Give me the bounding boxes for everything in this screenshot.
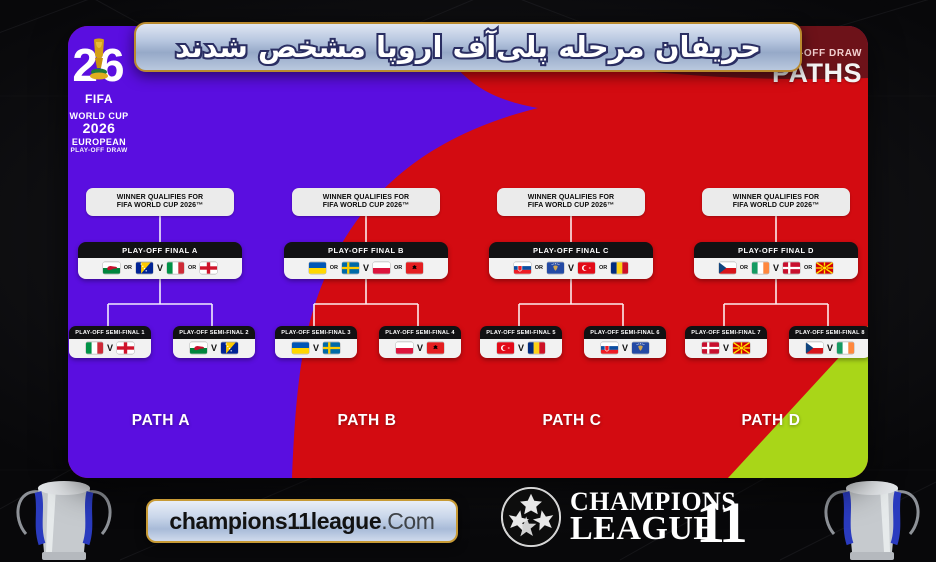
or-label-a-right: OR (188, 265, 196, 271)
site-name: champions11league (169, 508, 381, 534)
flag-nir (200, 262, 217, 274)
final-title-b: PLAY-OFF FINAL B (284, 242, 448, 258)
flag-pol (396, 342, 413, 354)
final-box-d[interactable]: PLAY-OFF FINAL D OR V OR (694, 242, 858, 279)
flag-ita (167, 262, 184, 274)
semi-box-5[interactable]: PLAY-OFF SEMI-FINAL 5 V (480, 326, 562, 358)
final-teams-a: OR V OR (78, 258, 242, 279)
vs-label-a: V (157, 263, 163, 273)
final-box-a[interactable]: PLAY-OFF FINAL A OR V OR (78, 242, 242, 279)
flag-irl (837, 342, 854, 354)
final-teams-c: OR V OR (489, 258, 653, 279)
site-watermark-button[interactable]: champions11league.Com (146, 499, 458, 543)
flag-rou (611, 262, 628, 274)
flag-bih (136, 262, 153, 274)
path-column-b: WINNER QUALIFIES FOR FIFA WORLD CUP 2026… (274, 26, 479, 478)
semi-title-8: PLAY-OFF SEMI-FINAL 8 (789, 326, 868, 339)
vs-label-3: V (313, 343, 319, 353)
flag-ita (86, 342, 103, 354)
winner-note-line1: WINNER QUALIFIES FOR (323, 194, 409, 202)
winner-note-line1: WINNER QUALIFIES FOR (528, 194, 614, 202)
vs-label-8: V (827, 343, 833, 353)
winner-note-c: WINNER QUALIFIES FOR FIFA WORLD CUP 2026… (497, 188, 645, 216)
semi-teams-1: V (69, 339, 151, 358)
playoff-draw-card: 26 FIFA WORLD CUP 2026 EUROPEAN PLAY-OFF… (68, 26, 868, 478)
vs-label-b: V (363, 263, 369, 273)
winner-note-line2: FIFA WORLD CUP 2026™ (117, 202, 203, 210)
winner-note-b: WINNER QUALIFIES FOR FIFA WORLD CUP 2026… (292, 188, 440, 216)
final-title-a: PLAY-OFF FINAL A (78, 242, 242, 258)
flag-swe (323, 342, 340, 354)
vs-label-c: V (568, 263, 574, 273)
vs-label-5: V (518, 343, 524, 353)
flag-svk (601, 342, 618, 354)
brand-number-11: 11 (696, 500, 745, 546)
flag-den (783, 262, 800, 274)
headline-banner: حریفان مرحله پلی‌آف اروپا مشخص شدند (134, 22, 802, 72)
flag-pol (373, 262, 390, 274)
final-box-b[interactable]: PLAY-OFF FINAL B OR V OR (284, 242, 448, 279)
flag-wal (190, 342, 207, 354)
flag-cze (719, 262, 736, 274)
flag-tur (497, 342, 514, 354)
champions-league-starball-icon (500, 486, 562, 548)
winner-note-line2: FIFA WORLD CUP 2026™ (733, 202, 819, 210)
semi-teams-5: V (480, 339, 562, 358)
semi-box-6[interactable]: PLAY-OFF SEMI-FINAL 6 V (584, 326, 666, 358)
winner-note-line2: FIFA WORLD CUP 2026™ (528, 202, 614, 210)
semi-title-7: PLAY-OFF SEMI-FINAL 7 (685, 326, 767, 339)
or-label-d-right: OR (804, 265, 812, 271)
semi-title-3: PLAY-OFF SEMI-FINAL 3 (275, 326, 357, 339)
semi-title-4: PLAY-OFF SEMI-FINAL 4 (379, 326, 461, 339)
flag-nir (117, 342, 134, 354)
site-tld: .Com (381, 508, 434, 534)
flag-alb (406, 262, 423, 274)
vs-label-2: V (211, 343, 217, 353)
flag-alb (427, 342, 444, 354)
flag-cze (806, 342, 823, 354)
or-label-b-left: OR (330, 265, 338, 271)
semi-title-1: PLAY-OFF SEMI-FINAL 1 (69, 326, 151, 339)
headline-text: حریفان مرحله پلی‌آف اروپا مشخص شدند (175, 30, 761, 64)
path-label-d: PATH D (696, 412, 846, 430)
playoff-bracket: WINNER QUALIFIES FOR FIFA WORLD CUP 2026… (68, 26, 868, 478)
flag-rou (528, 342, 545, 354)
flag-swe (342, 262, 359, 274)
winner-note-line2: FIFA WORLD CUP 2026™ (323, 202, 409, 210)
semi-teams-8: V (789, 339, 868, 358)
semi-teams-7: V (685, 339, 767, 358)
winner-note-d: WINNER QUALIFIES FOR FIFA WORLD CUP 2026… (702, 188, 850, 216)
screenshot-root: 26 FIFA WORLD CUP 2026 EUROPEAN PLAY-OFF… (0, 0, 936, 562)
semi-teams-6: V (584, 339, 666, 358)
semi-title-6: PLAY-OFF SEMI-FINAL 6 (584, 326, 666, 339)
world-cup-trophy-icon (86, 36, 112, 82)
path-label-b: PATH B (292, 412, 442, 430)
semi-box-3[interactable]: PLAY-OFF SEMI-FINAL 3 V (275, 326, 357, 358)
champions-league-11-logo: CHAMPIONS LEAGUE 11 (500, 486, 736, 548)
semi-box-2[interactable]: PLAY-OFF SEMI-FINAL 2 V (173, 326, 255, 358)
flag-svk (514, 262, 531, 274)
flag-mkd (816, 262, 833, 274)
final-title-c: PLAY-OFF FINAL C (489, 242, 653, 258)
semi-teams-4: V (379, 339, 461, 358)
final-title-d: PLAY-OFF FINAL D (694, 242, 858, 258)
logo-line-european: EUROPEAN (69, 137, 128, 147)
flag-ukr (292, 342, 309, 354)
flag-kos (632, 342, 649, 354)
path-label-a: PATH A (86, 412, 236, 430)
or-label-c-right: OR (599, 265, 607, 271)
semi-box-7[interactable]: PLAY-OFF SEMI-FINAL 7 V (685, 326, 767, 358)
semi-teams-3: V (275, 339, 357, 358)
or-label-c-left: OR (535, 265, 543, 271)
path-column-c: WINNER QUALIFIES FOR FIFA WORLD CUP 2026… (479, 26, 684, 478)
flag-den (702, 342, 719, 354)
semi-title-5: PLAY-OFF SEMI-FINAL 5 (480, 326, 562, 339)
semi-title-2: PLAY-OFF SEMI-FINAL 2 (173, 326, 255, 339)
logo-26-mark: 26 (71, 32, 127, 98)
vs-label-1: V (107, 343, 113, 353)
winner-note-a: WINNER QUALIFIES FOR FIFA WORLD CUP 2026… (86, 188, 234, 216)
flag-mkd (733, 342, 750, 354)
winner-note-line1: WINNER QUALIFIES FOR (733, 194, 819, 202)
semi-box-8[interactable]: PLAY-OFF SEMI-FINAL 8 V (789, 326, 868, 358)
or-label-b-right: OR (394, 265, 402, 271)
fifa-world-cup-2026-logo: 26 FIFA WORLD CUP 2026 EUROPEAN PLAY-OFF… (68, 26, 130, 166)
winner-note-line1: WINNER QUALIFIES FOR (117, 194, 203, 202)
final-teams-b: OR V OR (284, 258, 448, 279)
path-label-c: PATH C (497, 412, 647, 430)
final-teams-d: OR V OR (694, 258, 858, 279)
flag-kos (547, 262, 564, 274)
site-watermark-text: champions11league.Com (169, 508, 434, 535)
vs-label-7: V (723, 343, 729, 353)
flag-tur (578, 262, 595, 274)
flag-irl (752, 262, 769, 274)
logo-line-year: 2026 (69, 121, 128, 137)
flag-bih (221, 342, 238, 354)
vs-label-d: V (773, 263, 779, 273)
semi-teams-2: V (173, 339, 255, 358)
or-label-d-left: OR (740, 265, 748, 271)
vs-label-6: V (622, 343, 628, 353)
logo-line-playoff-draw: PLAY-OFF DRAW (69, 147, 128, 154)
flag-wal (103, 262, 120, 274)
or-label-a-left: OR (124, 265, 132, 271)
flag-ukr (309, 262, 326, 274)
semi-box-1[interactable]: PLAY-OFF SEMI-FINAL 1 V (69, 326, 151, 358)
final-box-c[interactable]: PLAY-OFF FINAL C OR V OR (489, 242, 653, 279)
semi-box-4[interactable]: PLAY-OFF SEMI-FINAL 4 V (379, 326, 461, 358)
logo-subtitle: WORLD CUP 2026 EUROPEAN PLAY-OFF DRAW (69, 111, 128, 154)
path-column-d: WINNER QUALIFIES FOR FIFA WORLD CUP 2026… (684, 26, 868, 478)
vs-label-4: V (417, 343, 423, 353)
